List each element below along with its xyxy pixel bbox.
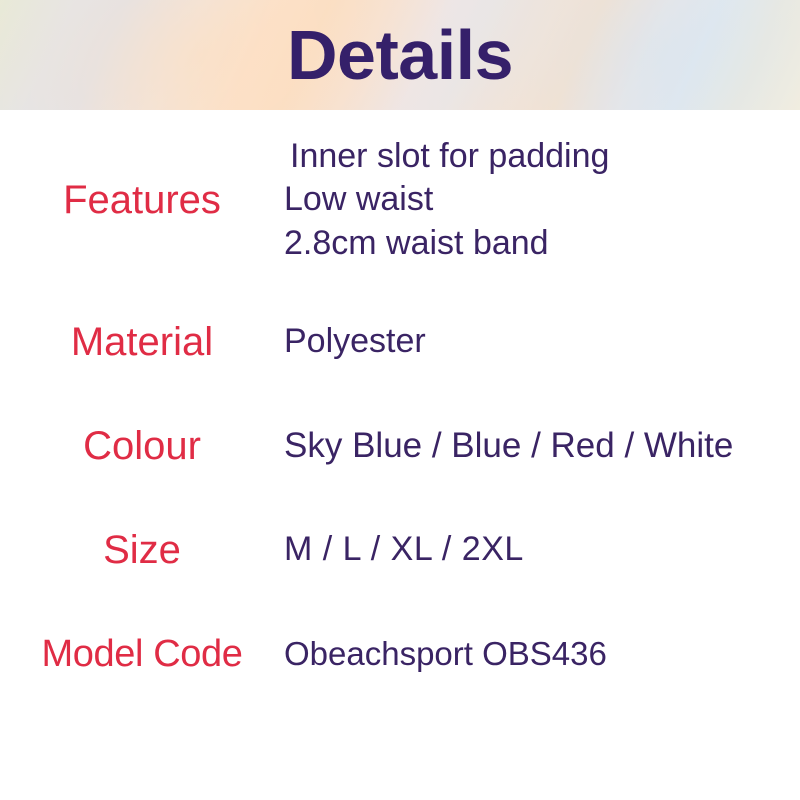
spec-label-model-code: Model Code (0, 633, 284, 676)
spec-label-colour: Colour (0, 424, 284, 469)
spec-label-features: Features (0, 178, 284, 223)
spec-value-material: Polyester (284, 321, 800, 362)
table-row: Size M / L / XL / 2XL (0, 498, 800, 602)
details-page: Details Features Inner slot for padding … (0, 0, 800, 800)
spec-label-size: Size (0, 528, 284, 573)
spec-value-features: Inner slot for padding Low waist 2.8cm w… (284, 135, 800, 266)
specification-table: Features Inner slot for padding Low wais… (0, 110, 800, 706)
table-row: Colour Sky Blue / Blue / Red / White (0, 394, 800, 498)
feature-line: Inner slot for padding (284, 135, 800, 179)
table-row: Features Inner slot for padding Low wais… (0, 110, 800, 290)
spec-value-size: M / L / XL / 2XL (284, 529, 800, 570)
spec-value-model-code: Obeachsport OBS436 (284, 634, 800, 674)
feature-line: 2.8cm waist band (284, 222, 800, 266)
table-row: Model Code Obeachsport OBS436 (0, 602, 800, 706)
header-banner: Details (0, 0, 800, 110)
table-row: Material Polyester (0, 290, 800, 394)
page-title: Details (0, 0, 800, 110)
spec-label-material: Material (0, 320, 284, 365)
spec-value-colour: Sky Blue / Blue / Red / White (284, 425, 800, 468)
feature-line: Low waist (284, 178, 800, 222)
